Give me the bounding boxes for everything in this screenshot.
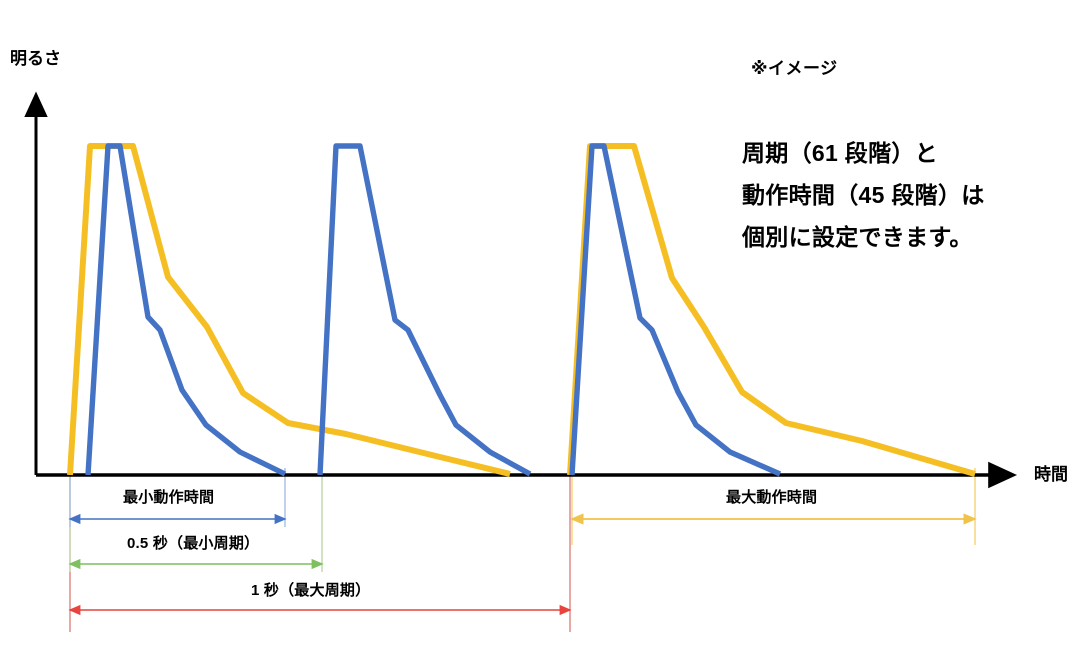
- measure-arrows: [70, 519, 975, 610]
- callout-line-1: 周期（61 段階）と: [742, 133, 1062, 175]
- callout-text: 周期（61 段階）と 動作時間（45 段階）は 個別に設定できます。: [742, 133, 1062, 259]
- annotation-max-cycle: 1 秒（最大周期）: [251, 583, 370, 598]
- callout-line-3: 個別に設定できます。: [742, 217, 1062, 259]
- y-axis-label: 明るさ: [10, 50, 61, 67]
- image-note: ※イメージ: [751, 60, 838, 77]
- annotation-max-operating-time: 最大動作時間: [726, 490, 817, 505]
- chart-canvas: 明るさ 時間 ※イメージ 周期（61 段階）と 動作時間（45 段階）は 個別に…: [0, 0, 1080, 645]
- yellow-pulse-1: [70, 146, 510, 475]
- x-axis-label: 時間: [1034, 466, 1068, 483]
- blue-pulse-1: [88, 146, 285, 475]
- annotation-min-operating-time: 最小動作時間: [123, 490, 214, 505]
- callout-line-2: 動作時間（45 段階）は: [742, 175, 1062, 217]
- blue-pulse-2: [320, 146, 530, 475]
- annotation-min-cycle: 0.5 秒（最小周期）: [127, 536, 259, 551]
